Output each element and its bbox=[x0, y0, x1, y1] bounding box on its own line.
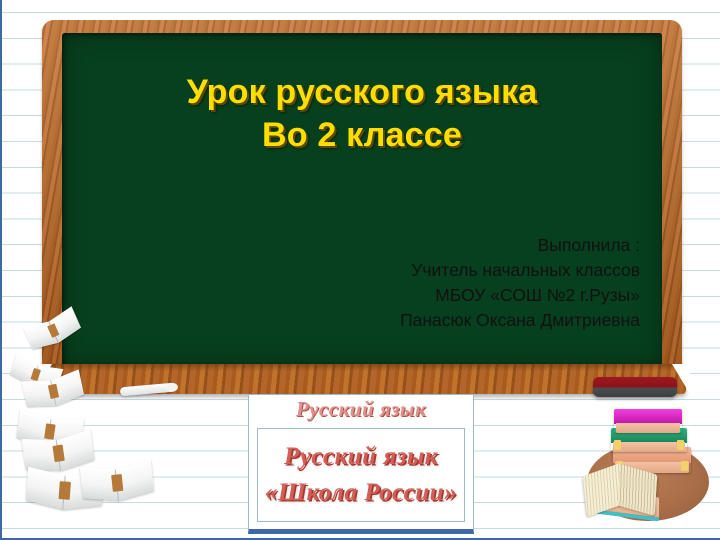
author-block: Выполнила : Учитель начальных классов МБ… bbox=[220, 233, 640, 333]
logo-line-program: «Школа России» bbox=[265, 479, 457, 507]
falling-books-decoration bbox=[2, 330, 167, 525]
author-line-3: МБОУ «СОШ №2 г.Рузы» bbox=[220, 283, 640, 308]
title-line-1: Урок русского языка bbox=[62, 71, 662, 114]
author-line-4: Панасюк Оксана Дмитриевна bbox=[220, 308, 640, 333]
author-line-1: Выполнила : bbox=[220, 233, 640, 258]
blackboard-surface: Урок русского языка Во 2 классе Выполнил… bbox=[62, 33, 662, 366]
open-book-icon bbox=[585, 459, 657, 519]
book-magenta bbox=[614, 409, 682, 433]
presentation-slide: Урок русского языка Во 2 классе Выполнил… bbox=[0, 0, 720, 540]
textbook-logo-card: Русский язык Русский язык «Школа России» bbox=[248, 394, 474, 534]
book-stack-decoration bbox=[585, 395, 720, 540]
author-line-2: Учитель начальных классов bbox=[220, 258, 640, 283]
board-eraser-icon bbox=[593, 377, 677, 397]
title-line-2: Во 2 классе bbox=[62, 114, 662, 157]
page-title: Урок русского языка Во 2 классе bbox=[62, 71, 662, 157]
logo-top-text: Русский язык bbox=[249, 397, 473, 422]
logo-inner-box: Русский язык «Школа России» bbox=[257, 428, 465, 522]
logo-line-subject: Русский язык bbox=[284, 443, 438, 471]
